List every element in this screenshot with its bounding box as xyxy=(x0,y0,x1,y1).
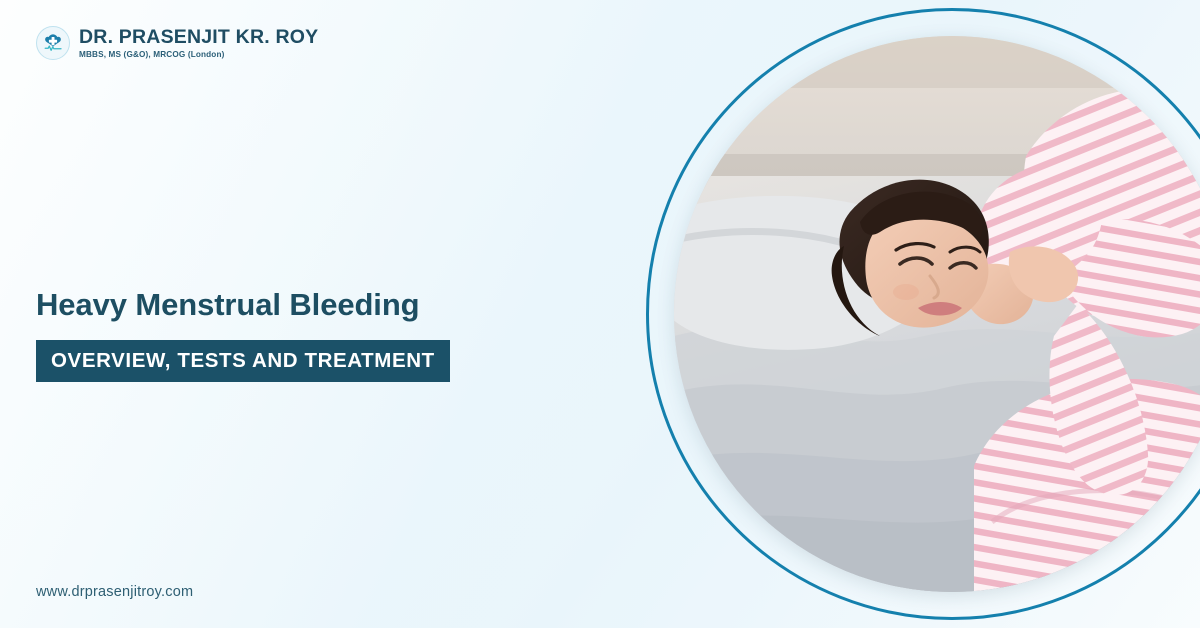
promo-banner: DR. PRASENJIT KR. ROY MBBS, MS (G&O), MR… xyxy=(0,0,1200,628)
brand-name: DR. PRASENJIT KR. ROY xyxy=(79,27,318,47)
brand-logo[interactable]: DR. PRASENJIT KR. ROY MBBS, MS (G&O), MR… xyxy=(36,26,318,60)
brand-credentials: MBBS, MS (G&O), MRCOG (London) xyxy=(79,50,318,59)
page-title: Heavy Menstrual Bleeding xyxy=(36,288,596,323)
hero-photo xyxy=(674,36,1200,592)
medical-cross-circle-icon xyxy=(36,26,70,60)
website-url[interactable]: www.drprasenjitroy.com xyxy=(36,584,193,600)
hero-subtitle-bar: OVERVIEW, TESTS AND TREATMENT xyxy=(36,340,450,383)
hero-photo-container xyxy=(646,8,1200,620)
hero-text-block: Heavy Menstrual Bleeding OVERVIEW, TESTS… xyxy=(36,288,596,382)
brand-text: DR. PRASENJIT KR. ROY MBBS, MS (G&O), MR… xyxy=(79,27,318,59)
